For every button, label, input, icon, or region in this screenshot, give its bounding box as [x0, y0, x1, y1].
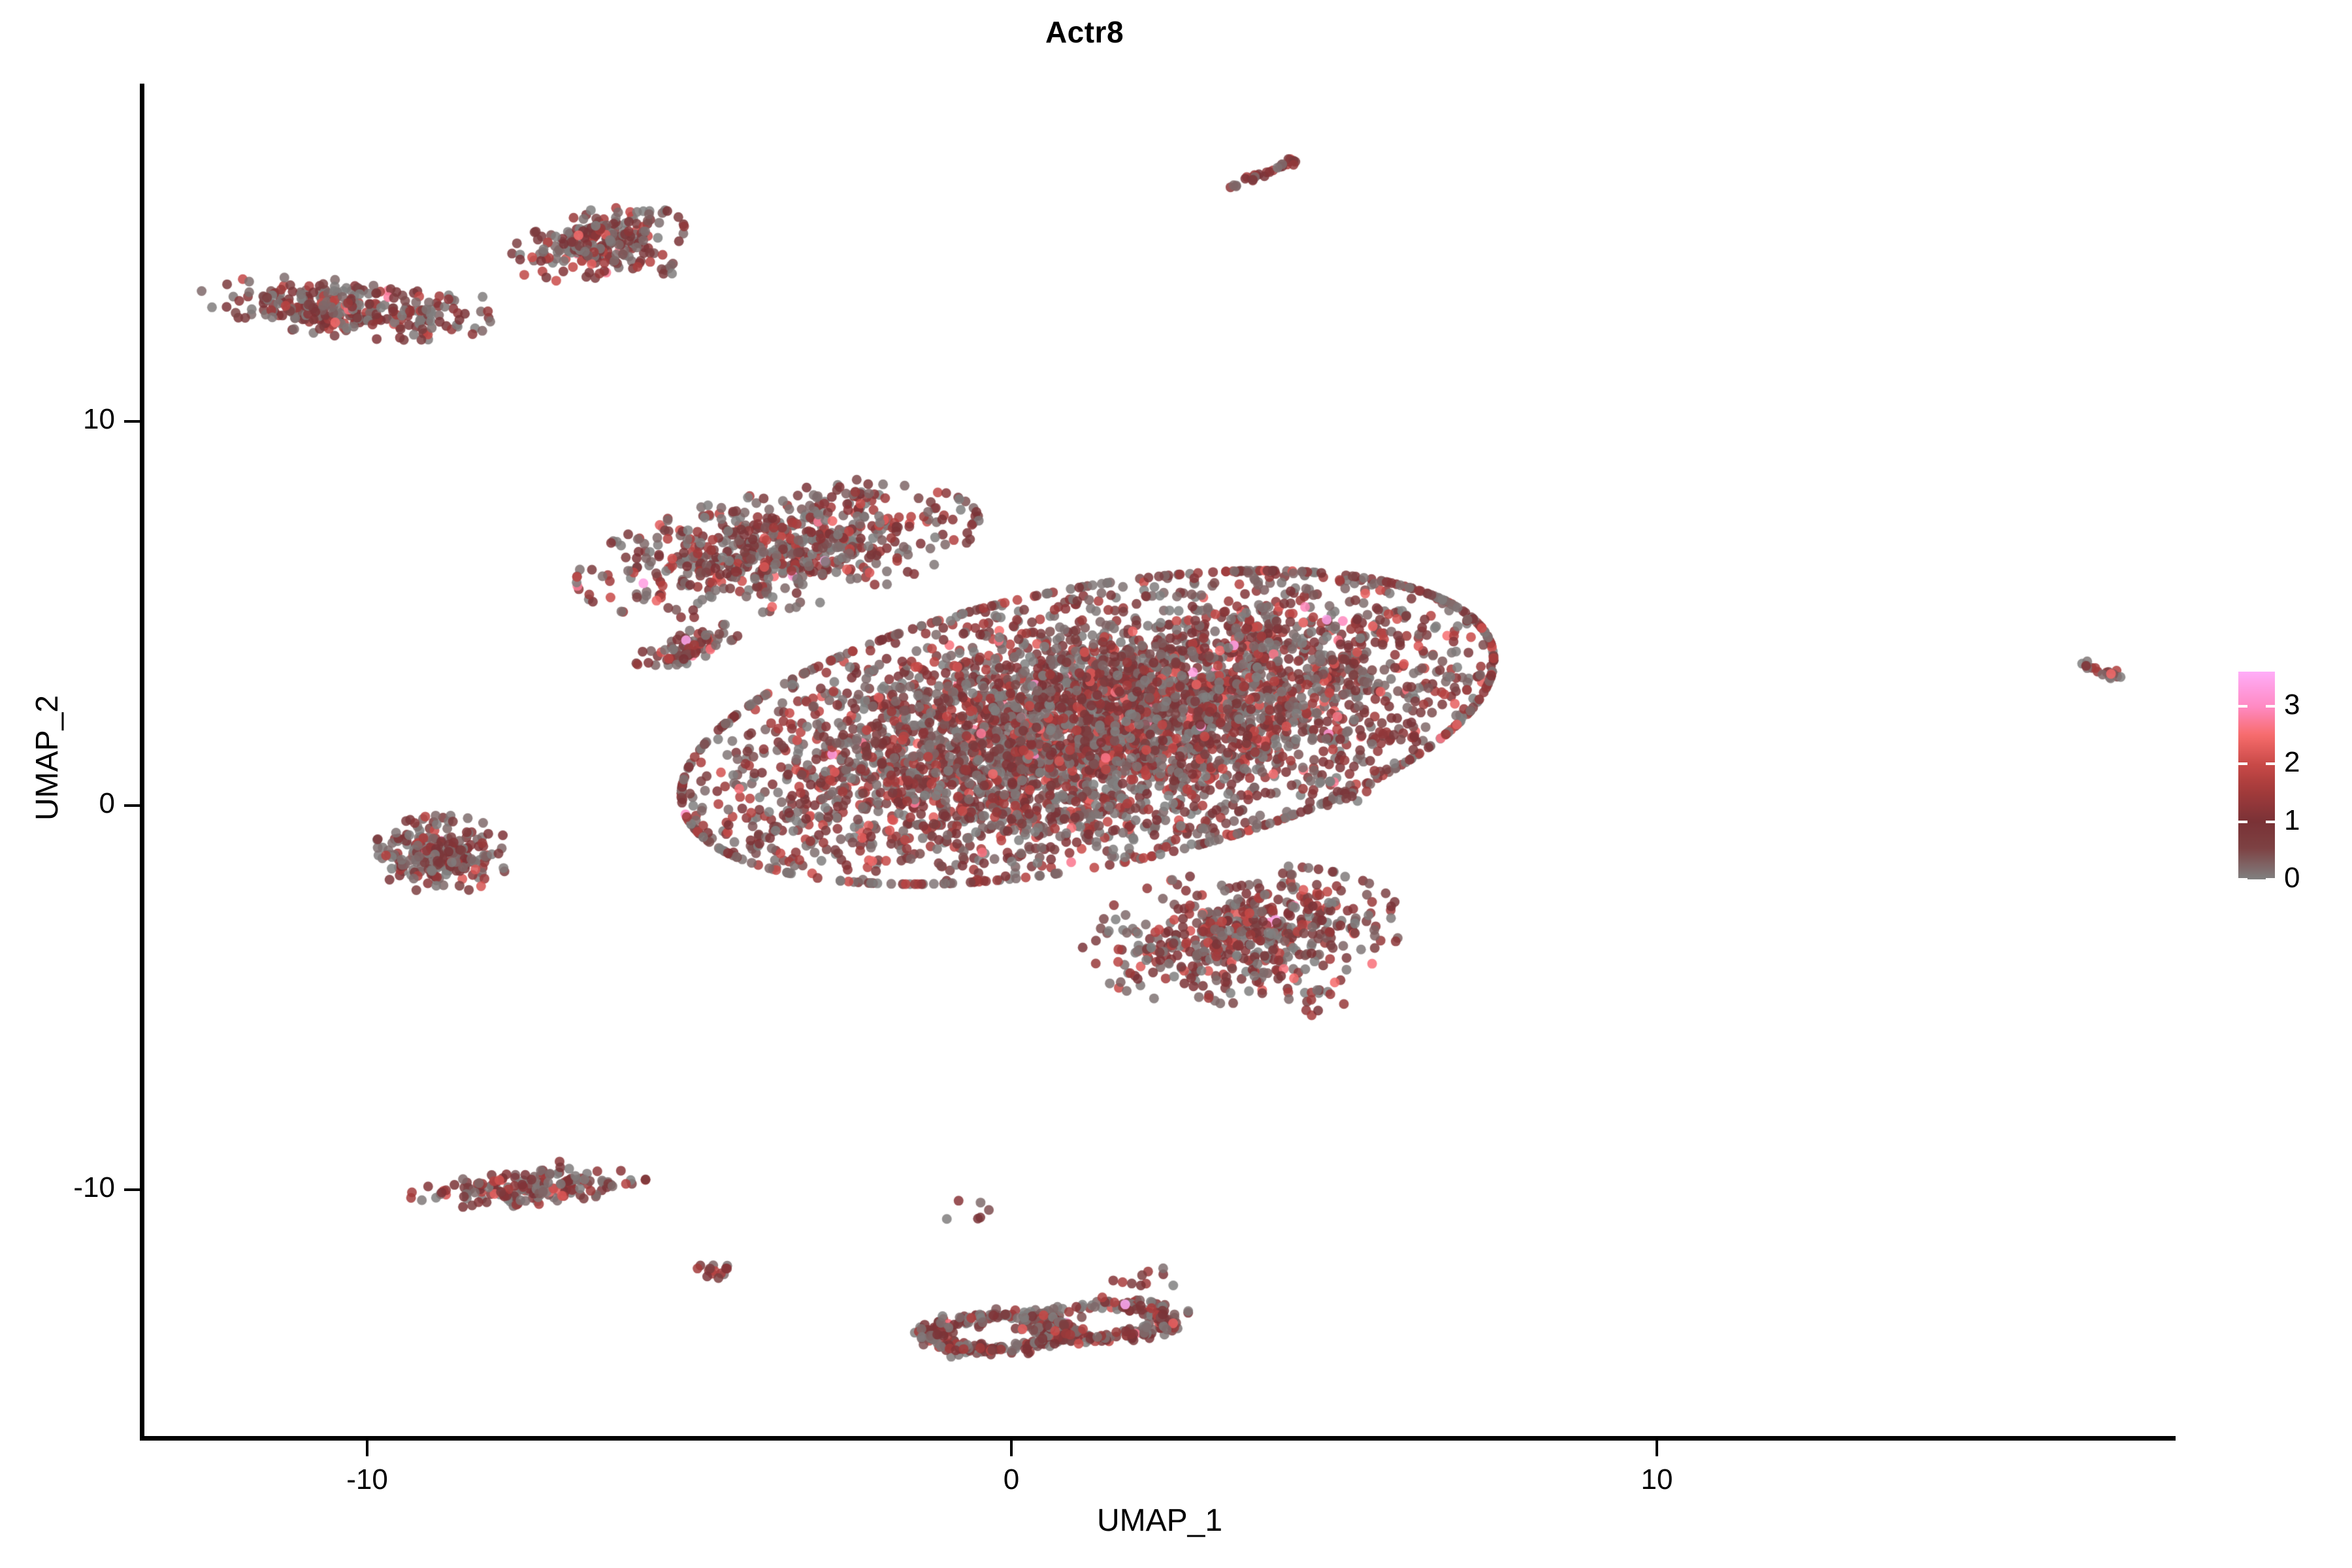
colorbar-tick-3-right	[2266, 705, 2275, 708]
colorbar-tick-0-right	[2266, 878, 2275, 881]
y-axis-tick-0	[124, 804, 140, 807]
colorbar-legend: 3 2 1 0	[2238, 672, 2275, 879]
x-axis-ticklabel-0: 0	[946, 1463, 1077, 1496]
scatter-points-layer	[144, 84, 2176, 1437]
x-axis-tick-neg10	[366, 1441, 368, 1456]
y-axis-line	[140, 84, 144, 1440]
x-axis-ticklabel-neg10: -10	[302, 1463, 433, 1496]
colorbar-tick-1-left	[2238, 821, 2247, 823]
colorbar-label-1: 1	[2284, 806, 2300, 835]
x-axis-tick-0	[1010, 1441, 1013, 1456]
colorbar-gradient	[2238, 672, 2275, 879]
x-axis-ticklabel-10: 10	[1592, 1463, 1722, 1496]
x-axis-line	[140, 1436, 2176, 1441]
y-axis-title: UMAP_2	[29, 399, 65, 1117]
colorbar-tick-2-right	[2266, 762, 2275, 765]
y-axis-tick-10	[124, 420, 140, 423]
scatter-plot-panel	[144, 84, 2176, 1437]
colorbar-tick-3-left	[2238, 705, 2247, 708]
x-axis-tick-10	[1656, 1441, 1658, 1456]
y-axis-ticklabel-neg10: -10	[0, 1171, 115, 1204]
page-title: Actr8	[0, 14, 2169, 50]
colorbar-label-2: 2	[2284, 748, 2300, 777]
y-axis-tick-neg10	[124, 1188, 140, 1191]
colorbar-tick-1-right	[2266, 821, 2275, 823]
colorbar-tick-2-left	[2238, 762, 2247, 765]
x-axis-title: UMAP_1	[144, 1503, 2176, 1539]
feature-plot-figure: Actr8 -10 0 10 10 0 -10 UMAP_1 UMAP_2 3 …	[0, 0, 2352, 1568]
colorbar-tick-0-left	[2238, 878, 2247, 881]
colorbar-label-3: 3	[2284, 691, 2300, 719]
colorbar-label-0: 0	[2284, 864, 2300, 892]
